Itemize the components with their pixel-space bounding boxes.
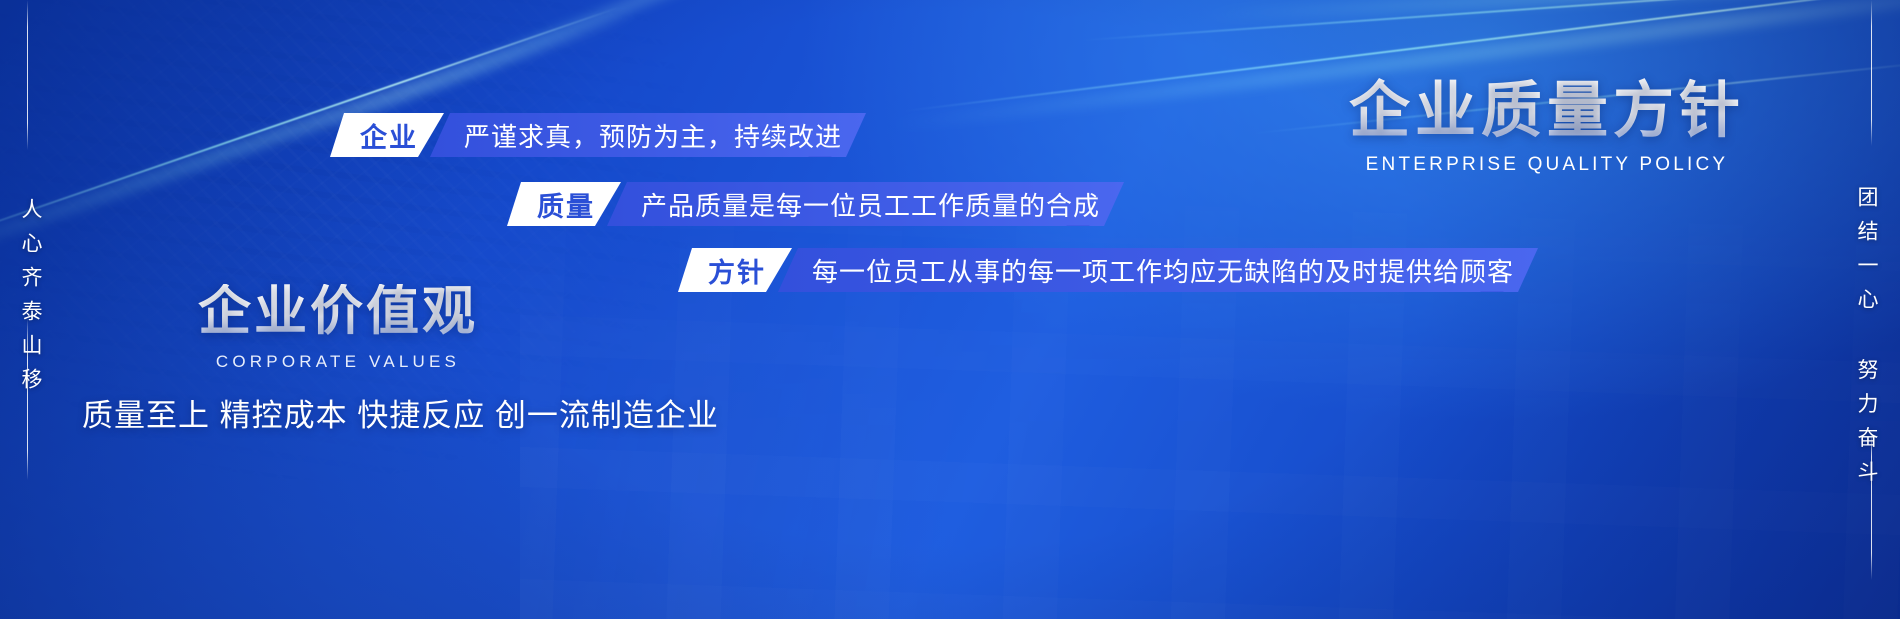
- left-rule-top: [27, 0, 28, 150]
- ribbon-body-2: 产品质量是每一位员工工作质量的合成: [607, 182, 1124, 226]
- ribbon-tag-label-3: 方针: [708, 251, 766, 290]
- ribbon-row-2: 质量 产品质量是每一位员工工作质量的合成: [507, 182, 1124, 226]
- values-title-en: CORPORATE VALUES: [198, 352, 478, 372]
- ribbon-body-1: 严谨求真，预防为主，持续改进: [430, 113, 866, 157]
- ribbon-tag-label-1: 企业: [360, 116, 418, 155]
- values-heading-group: 企业价值观 CORPORATE VALUES: [198, 284, 478, 372]
- ribbon-tag-1: 企业: [330, 113, 444, 157]
- ribbon-tag-label-2: 质量: [537, 185, 595, 224]
- ribbon-body-text-2: 产品质量是每一位员工工作质量的合成: [641, 186, 1100, 223]
- ribbon-body-text-1: 严谨求真，预防为主，持续改进: [464, 117, 842, 154]
- ribbon-tag-2: 质量: [507, 182, 621, 226]
- policy-title-cn: 企业质量方针: [1349, 78, 1745, 142]
- ribbon-body-text-3: 每一位员工从事的每一项工作均应无缺陷的及时提供给顾客: [812, 252, 1514, 289]
- policy-title-en: ENTERPRISE QUALITY POLICY: [1349, 154, 1745, 176]
- policy-heading-group: 企业质量方针 ENTERPRISE QUALITY POLICY: [1349, 78, 1745, 176]
- ribbon-row-3: 方针 每一位员工从事的每一项工作均应无缺陷的及时提供给顾客: [678, 248, 1538, 292]
- side-caption-right: 团结一心 努力奋斗: [1852, 186, 1882, 495]
- values-title-cn: 企业价值观: [198, 284, 478, 340]
- values-slogan: 质量至上 精控成本 快捷反应 创一流制造企业: [82, 390, 719, 435]
- ribbon-body-3: 每一位员工从事的每一项工作均应无缺陷的及时提供给顾客: [778, 248, 1538, 292]
- ribbon-row-1: 企业 严谨求真，预防为主，持续改进: [330, 113, 866, 157]
- corporate-quality-policy-banner: 人心齐泰山移 团结一心 努力奋斗 企业质量方针 ENTERPRISE QUALI…: [0, 0, 1900, 619]
- right-rule-top: [1871, 0, 1872, 146]
- side-caption-left: 人心齐泰山移: [16, 198, 46, 402]
- ribbon-tag-3: 方针: [678, 248, 792, 292]
